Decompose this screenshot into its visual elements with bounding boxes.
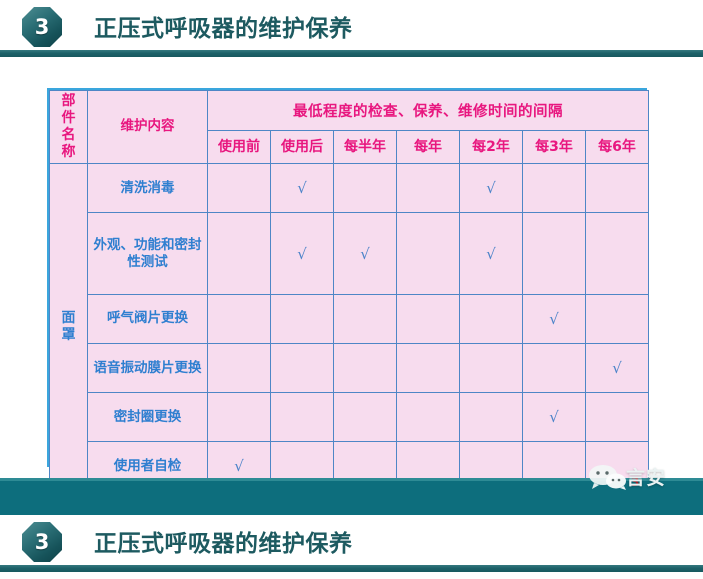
cell-check-empty	[271, 392, 334, 441]
cell-check-empty	[208, 392, 271, 441]
cell-check-marked: √	[271, 164, 334, 213]
cell-part-name: 面罩	[50, 164, 88, 491]
cell-check-empty	[334, 343, 397, 392]
header-maintenance-content: 维护内容	[88, 91, 208, 164]
cell-check-empty	[460, 343, 523, 392]
table-head: 部件名称 维护内容 最低程度的检查、保养、维修时间的间隔 使用前 使用后 每半年…	[50, 91, 649, 164]
table-row: 外观、功能和密封性测试√√√	[50, 213, 649, 294]
cell-check-empty	[460, 294, 523, 343]
cell-check-empty	[271, 343, 334, 392]
cell-check-empty	[397, 392, 460, 441]
header-period-half-year: 每半年	[334, 131, 397, 164]
header-part-name: 部件名称	[50, 91, 88, 164]
cell-check-empty	[271, 294, 334, 343]
table-body: 面罩清洗消毒√√外观、功能和密封性测试√√√呼气阀片更换√语音振动膜片更换√密封…	[50, 164, 649, 491]
cell-check-empty	[334, 164, 397, 213]
cell-check-empty	[397, 343, 460, 392]
cell-check-marked: √	[523, 294, 586, 343]
table-row: 语音振动膜片更换√	[50, 343, 649, 392]
header-divider-bottom	[0, 565, 703, 572]
section-number-badge: 3	[22, 7, 62, 47]
cell-check-empty	[523, 213, 586, 294]
header-divider	[0, 50, 703, 57]
cell-check-empty	[586, 213, 649, 294]
section-number-label-bottom: 3	[35, 532, 50, 553]
slide-header: 3 正压式呼吸器的维护保养	[0, 0, 703, 50]
maintenance-table-container: 部件名称 维护内容 最低程度的检查、保养、维修时间的间隔 使用前 使用后 每半年…	[47, 88, 647, 467]
cell-check-empty	[586, 294, 649, 343]
cell-maintenance-item: 语音振动膜片更换	[88, 343, 208, 392]
header-period-2-years: 每2年	[460, 131, 523, 164]
page-title-bottom: 正压式呼吸器的维护保养	[94, 524, 353, 558]
cell-check-marked: √	[586, 343, 649, 392]
header-period-before-use: 使用前	[208, 131, 271, 164]
cell-check-marked: √	[523, 392, 586, 441]
cell-check-empty	[523, 164, 586, 213]
table-row: 呼气阀片更换√	[50, 294, 649, 343]
cell-check-empty	[586, 164, 649, 213]
cell-check-empty	[334, 294, 397, 343]
cell-check-empty	[397, 213, 460, 294]
cell-check-empty	[397, 164, 460, 213]
slide-top: 3 正压式呼吸器的维护保养 部件名称 维护内容 最低程度的检查、保养、维修时间的…	[0, 0, 703, 478]
cell-check-empty	[586, 392, 649, 441]
page-title: 正压式呼吸器的维护保养	[94, 9, 353, 43]
section-number-badge-bottom: 3	[22, 522, 62, 562]
header-interval-group: 最低程度的检查、保养、维修时间的间隔	[208, 91, 649, 131]
header-period-yearly: 每年	[397, 131, 460, 164]
cell-check-marked: √	[460, 164, 523, 213]
table-row: 面罩清洗消毒√√	[50, 164, 649, 213]
cell-check-empty	[397, 294, 460, 343]
header-period-after-use: 使用后	[271, 131, 334, 164]
cell-check-empty	[208, 294, 271, 343]
cell-maintenance-item: 清洗消毒	[88, 164, 208, 213]
cell-check-marked: √	[271, 213, 334, 294]
cell-check-marked: √	[460, 213, 523, 294]
table-header-row-1: 部件名称 维护内容 最低程度的检查、保养、维修时间的间隔	[50, 91, 649, 131]
cell-check-empty	[208, 164, 271, 213]
table-row: 密封圈更换√	[50, 392, 649, 441]
section-separator-band	[0, 478, 703, 515]
cell-maintenance-item: 外观、功能和密封性测试	[88, 213, 208, 294]
cell-maintenance-item: 呼气阀片更换	[88, 294, 208, 343]
cell-check-empty	[208, 213, 271, 294]
cell-check-marked: √	[334, 213, 397, 294]
section-number-label: 3	[35, 17, 50, 38]
cell-check-empty	[208, 343, 271, 392]
slide-bottom: 3 正压式呼吸器的维护保养	[0, 515, 703, 579]
cell-check-empty	[523, 343, 586, 392]
cell-maintenance-item: 密封圈更换	[88, 392, 208, 441]
header-period-6-years: 每6年	[586, 131, 649, 164]
maintenance-table: 部件名称 维护内容 最低程度的检查、保养、维修时间的间隔 使用前 使用后 每半年…	[49, 90, 649, 491]
header-period-3-years: 每3年	[523, 131, 586, 164]
cell-check-empty	[460, 392, 523, 441]
band-highlight-edge	[0, 478, 703, 481]
slide-bottom-header: 3 正压式呼吸器的维护保养	[0, 515, 703, 565]
cell-check-empty	[334, 392, 397, 441]
